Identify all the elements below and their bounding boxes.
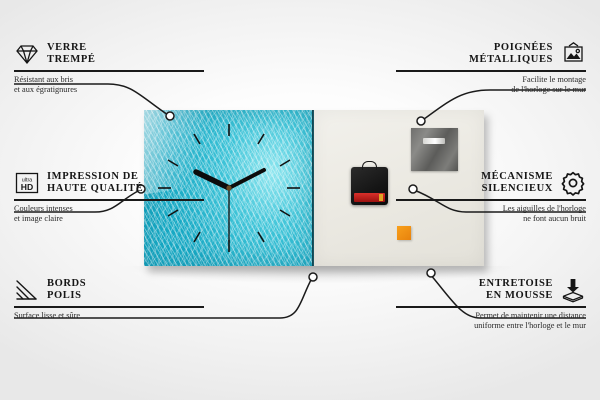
clock-mechanism-box (351, 167, 388, 205)
feature-divider (14, 70, 204, 72)
ultra-hd-icon: ultra HD (14, 170, 40, 196)
feature-subtitle: Permet de maintenir une distance uniform… (396, 311, 586, 331)
feature-header: VERRE TREMPÉ (14, 41, 204, 67)
feature-subtitle: Surface lisse et sûre (14, 311, 204, 321)
feature-subtitle: Couleurs intenses et image claire (14, 204, 204, 224)
picture-hanger-icon (560, 41, 586, 67)
feature-divider (396, 199, 586, 201)
feature-divider (396, 306, 586, 308)
feature-header: MÉCANISME SILENCIEUX (396, 170, 586, 196)
foam-spacer (397, 226, 411, 240)
feature-title: ENTRETOISE EN MOUSSE (479, 278, 553, 303)
feature-entretoise-en-mousse: ENTRETOISE EN MOUSSE Permet de maintenir… (396, 277, 586, 331)
battery (354, 193, 385, 202)
gear-icon (560, 170, 586, 196)
hanging-loop-icon (362, 161, 377, 170)
diamond-icon (14, 41, 40, 67)
feature-title: IMPRESSION DE HAUTE QUALITÉ (47, 171, 143, 196)
feature-impression-haute-qualite: ultra HD IMPRESSION DE HAUTE QUALITÉ Cou… (14, 170, 204, 224)
infographic-stage: VERRE TREMPÉ Résistant aux bris et aux é… (0, 0, 600, 400)
feature-bords-polis: BORDS POLIS Surface lisse et sûre (14, 277, 204, 321)
feature-divider (14, 199, 204, 201)
feature-mecanisme-silencieux: MÉCANISME SILENCIEUX Les aiguilles de l'… (396, 170, 586, 224)
svg-text:HD: HD (21, 182, 33, 192)
feature-subtitle: Les aiguilles de l'horloge ne font aucun… (396, 204, 586, 224)
feature-subtitle: Facilite le montage de l'horloge sur le … (396, 75, 586, 95)
metal-hanger-plate (411, 128, 458, 171)
feature-title: MÉCANISME SILENCIEUX (481, 171, 553, 196)
polished-edge-icon (14, 277, 40, 303)
feature-header: ENTRETOISE EN MOUSSE (396, 277, 586, 303)
feature-title: BORDS POLIS (47, 278, 86, 303)
feature-title: POIGNÉES MÉTALLIQUES (469, 42, 553, 67)
feature-title: VERRE TREMPÉ (47, 42, 96, 67)
feature-divider (396, 70, 586, 72)
feature-divider (14, 306, 204, 308)
feature-subtitle: Résistant aux bris et aux égratignures (14, 75, 204, 95)
foam-spacer-icon (560, 277, 586, 303)
feature-header: BORDS POLIS (14, 277, 204, 303)
feature-poignees-metalliques: POIGNÉES MÉTALLIQUES Facilite le montage… (396, 41, 586, 95)
feature-header: ultra HD IMPRESSION DE HAUTE QUALITÉ (14, 170, 204, 196)
feature-header: POIGNÉES MÉTALLIQUES (396, 41, 586, 67)
feature-verre-trempe: VERRE TREMPÉ Résistant aux bris et aux é… (14, 41, 204, 95)
